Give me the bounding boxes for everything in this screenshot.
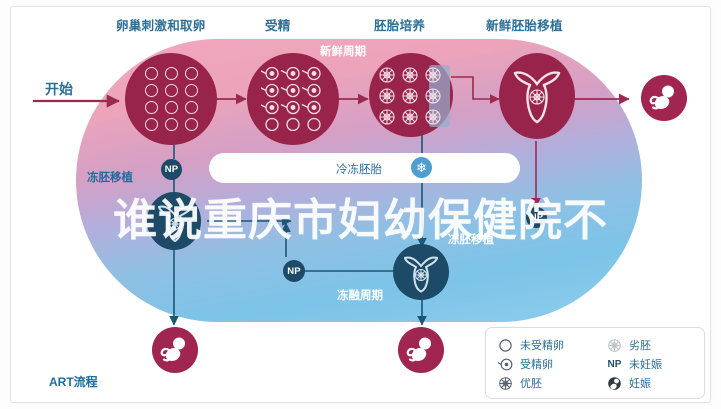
- unfertilized-oocyte-icon: [165, 101, 178, 114]
- unfertilized-oocyte-icon: [165, 67, 178, 80]
- legend-label: 受精卵: [520, 356, 553, 372]
- legend-label: 劣胚: [629, 337, 651, 353]
- unfertilized-oocyte-icon: [145, 101, 158, 114]
- uterus-icon: [511, 65, 563, 127]
- stage-label-embryo-culture: 胚胎培养: [374, 15, 425, 34]
- legend-item-fertilized[interactable]: 受精卵: [498, 356, 553, 372]
- thaw-cycle-label: 冻融周期: [337, 287, 383, 303]
- unfertilized-oocyte-icon: [145, 67, 158, 80]
- fertilized-oocyte-grid: [261, 67, 327, 131]
- uterus-icon-thaw: [402, 253, 440, 293]
- oocyte-grid: [145, 67, 201, 131]
- np-node-left[interactable]: NP: [161, 159, 182, 180]
- unfertilized-oocyte-icon: [165, 84, 178, 97]
- legend-label: 未受精卵: [520, 337, 564, 353]
- np-icon: NP: [607, 359, 622, 370]
- pregnancy-icon: [649, 83, 679, 113]
- legend-item-pregnancy[interactable]: 妊娠: [607, 375, 651, 391]
- start-label: 开始: [45, 79, 73, 99]
- legend-item-good-embryo[interactable]: 优胚: [498, 375, 542, 391]
- frozen-transfer-label-left: 冻胚移植: [87, 169, 133, 185]
- np-label: NP: [530, 212, 544, 223]
- stage-label-fertilization: 受精: [265, 15, 291, 34]
- uterus-icon-left: [156, 201, 194, 243]
- pregnancy-icon: [607, 376, 622, 391]
- pregnancy-icon-thaw: [406, 335, 436, 365]
- legend-item-no-pregnancy[interactable]: NP 未妊娠: [607, 356, 662, 372]
- poor-embryo-icon: [607, 338, 622, 353]
- fertilized-oocyte-icon: [498, 357, 513, 372]
- np-label: NP: [165, 164, 179, 175]
- diagram-root: 卵巢刺激和取卵 受精 胚胎培养 新鲜胚胎移植 新鲜周期 冻融周期 冻胚移植 冻胚…: [0, 0, 721, 409]
- pregnancy-icon-left: [160, 335, 190, 365]
- art-flow-title: ART流程: [49, 373, 98, 390]
- unfertilized-oocyte-icon: [145, 118, 158, 131]
- legend-item-unfertilized[interactable]: 未受精卵: [498, 337, 564, 353]
- snowflake-glyph: ❄: [416, 161, 427, 174]
- unfertilized-oocyte-icon: [185, 84, 198, 97]
- legend-item-poor-embryo[interactable]: 劣胚: [607, 337, 651, 353]
- legend-box: 未受精卵 受精卵: [485, 327, 705, 399]
- legend-label: 妊娠: [629, 375, 651, 391]
- np-node-right[interactable]: NP: [526, 207, 547, 228]
- stage-label-ovarian-stimulation: 卵巢刺激和取卵: [116, 15, 206, 34]
- embryo-grid: [377, 65, 447, 127]
- np-label: NP: [287, 266, 301, 277]
- np-node-bottom[interactable]: NP: [283, 260, 305, 282]
- legend-label: 未妊娠: [629, 356, 662, 372]
- unfertilized-oocyte-icon: [185, 118, 198, 131]
- good-embryo-icon: [498, 376, 513, 391]
- unfertilized-oocyte-icon: [165, 118, 178, 131]
- unfertilized-oocyte-icon: [498, 338, 513, 353]
- fresh-cycle-label: 新鲜周期: [320, 43, 366, 59]
- diagram-card: 卵巢刺激和取卵 受精 胚胎培养 新鲜胚胎移植 新鲜周期 冻融周期 冻胚移植 冻胚…: [10, 6, 711, 403]
- unfertilized-oocyte-icon: [185, 101, 198, 114]
- snowflake-icon: ❄: [411, 157, 432, 178]
- frozen-embryo-label: 冷冻胚胎: [336, 161, 382, 177]
- frozen-transfer-label-right: 冻胚移植: [448, 231, 494, 247]
- unfertilized-oocyte-icon: [185, 67, 198, 80]
- legend-label: 优胚: [520, 375, 542, 391]
- stage-label-fresh-transfer: 新鲜胚胎移植: [486, 15, 563, 34]
- unfertilized-oocyte-icon: [145, 84, 158, 97]
